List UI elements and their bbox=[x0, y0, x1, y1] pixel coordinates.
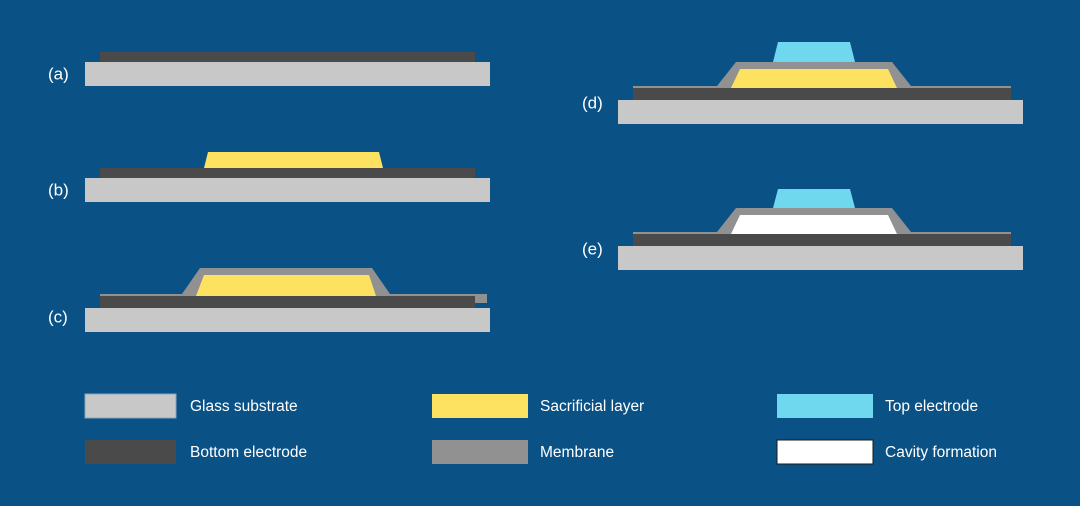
legend-swatch-sacrificial-layer bbox=[432, 394, 528, 418]
legend-item-glass-substrate: Glass substrate bbox=[85, 394, 298, 418]
legend-swatch-glass-substrate bbox=[85, 394, 176, 418]
legend-label-bottom-electrode: Bottom electrode bbox=[190, 444, 307, 461]
panel-c-glass-substrate bbox=[85, 308, 490, 332]
legend-label-membrane: Membrane bbox=[540, 444, 614, 461]
legend-label-top-electrode: Top electrode bbox=[885, 398, 978, 415]
legend-swatch-cavity-formation bbox=[777, 440, 873, 464]
panel-e-bottom-electrode bbox=[633, 234, 1011, 246]
panel-d-bottom-electrode bbox=[633, 88, 1011, 100]
panel-d-label: (d) bbox=[582, 93, 603, 112]
panel-d-top-electrode bbox=[773, 42, 855, 62]
legend-item-membrane: Membrane bbox=[432, 440, 614, 464]
panel-a-bottom-electrode bbox=[100, 52, 475, 62]
panel-d-sacrificial-layer bbox=[731, 69, 897, 88]
panel-d-glass-substrate bbox=[618, 100, 1023, 124]
panel-c-bottom-electrode bbox=[100, 296, 475, 308]
panel-c-sacrificial-layer bbox=[196, 275, 376, 296]
legend-item-cavity-formation: Cavity formation bbox=[777, 440, 997, 464]
legend-label-sacrificial-layer: Sacrificial layer bbox=[540, 398, 644, 415]
panel-e-label: (e) bbox=[582, 239, 603, 258]
legend-item-bottom-electrode: Bottom electrode bbox=[85, 440, 307, 464]
panel-a: (a) bbox=[48, 52, 490, 86]
legend-swatch-bottom-electrode bbox=[85, 440, 176, 464]
panel-a-glass-substrate bbox=[85, 62, 490, 86]
figure-canvas: (a) (b) (c) (d) (e) bbox=[0, 0, 1080, 506]
panel-e-glass-substrate bbox=[618, 246, 1023, 270]
legend-label-glass-substrate: Glass substrate bbox=[190, 398, 298, 415]
legend-swatch-membrane bbox=[432, 440, 528, 464]
legend-label-cavity-formation: Cavity formation bbox=[885, 444, 997, 461]
panel-b-label: (b) bbox=[48, 180, 69, 199]
panel-b-bottom-electrode bbox=[100, 168, 475, 178]
legend-swatch-top-electrode bbox=[777, 394, 873, 418]
panel-e-cavity-formation bbox=[731, 215, 897, 234]
panel-e-top-electrode bbox=[773, 189, 855, 208]
process-flow-diagram: (a) (b) (c) (d) (e) bbox=[0, 0, 1080, 506]
panel-b-glass-substrate bbox=[85, 178, 490, 202]
panel-c-label: (c) bbox=[48, 307, 68, 326]
panel-a-label: (a) bbox=[48, 64, 69, 83]
